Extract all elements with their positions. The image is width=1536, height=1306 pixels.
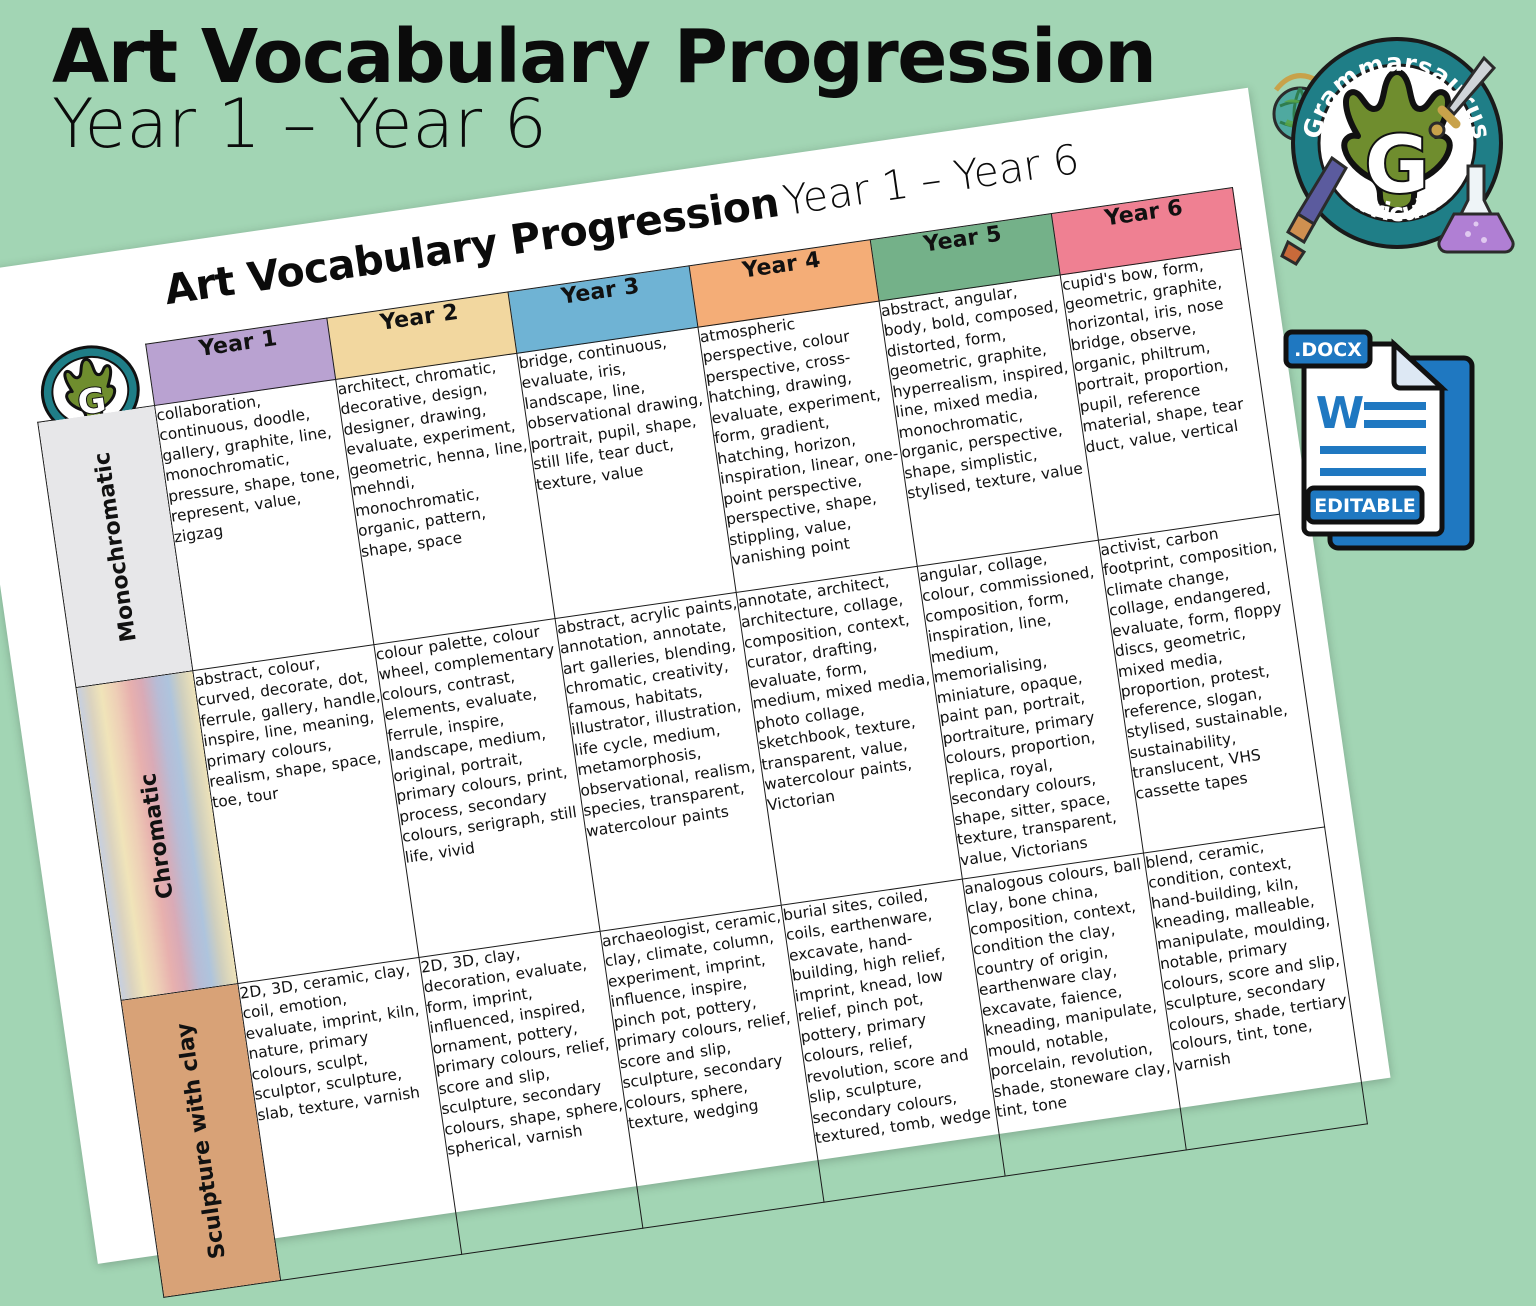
grammarsaurus-logo: G Grammarsaurus Curriculum (1272, 18, 1522, 268)
worksheet-page: Art Vocabulary Progression Year 1 – Year… (0, 88, 1391, 1264)
row-header-label: Monochromatic (89, 450, 141, 643)
editable-label: EDITABLE (1314, 495, 1416, 517)
sheet-title-light: Year 1 – Year 6 (780, 135, 1082, 225)
worksheet-preview[interactable]: Art Vocabulary Progression Year 1 – Year… (0, 88, 1391, 1264)
row-header-label: Sculpture with clay (171, 1021, 230, 1260)
page-title: Art Vocabulary Progression (52, 22, 1282, 93)
vocabulary-table: G Year 1 Year 2 Year 3 Year 4 Year 5 Yea… (28, 187, 1368, 1298)
word-mark: W (1316, 388, 1365, 439)
docx-editable-badge[interactable]: W EDITABLE .DOCX (1282, 322, 1512, 562)
cell-monochromatic-year-6: cupid's bow, form, geometric, graphite, … (1060, 249, 1279, 540)
format-label: .DOCX (1294, 339, 1362, 361)
row-header-label: Chromatic (136, 771, 179, 900)
